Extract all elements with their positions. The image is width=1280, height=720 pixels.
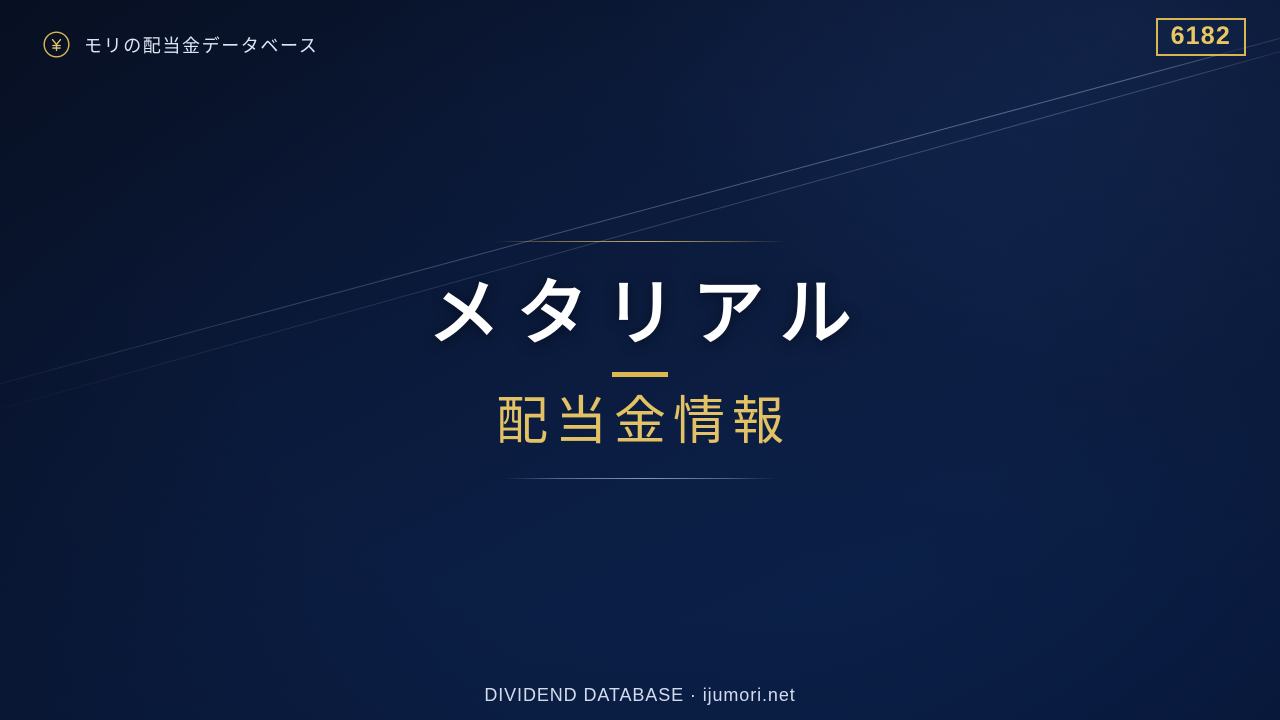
- page-footer: DIVIDEND DATABASE · ijumori.net: [0, 685, 1280, 706]
- company-name: メタリアル: [412, 278, 867, 350]
- section-label: 配当金情報: [489, 395, 791, 450]
- brand[interactable]: モリの配当金データベース: [42, 30, 318, 59]
- title-block: メタリアル 配当金情報: [0, 0, 1280, 720]
- yen-circle-icon: [42, 30, 71, 59]
- brand-title: モリの配当金データベース: [84, 32, 318, 58]
- divider-top: [494, 241, 786, 242]
- accent-bar: [612, 372, 668, 377]
- slide-canvas: モリの配当金データベース 6182 メタリアル 配当金情報 DIVIDEND D…: [0, 0, 1280, 720]
- ticker-badge[interactable]: 6182: [1156, 18, 1246, 56]
- footer-text: DIVIDEND DATABASE · ijumori.net: [484, 685, 795, 705]
- divider-bottom: [504, 478, 776, 479]
- page-header: モリの配当金データベース 6182: [0, 0, 1280, 90]
